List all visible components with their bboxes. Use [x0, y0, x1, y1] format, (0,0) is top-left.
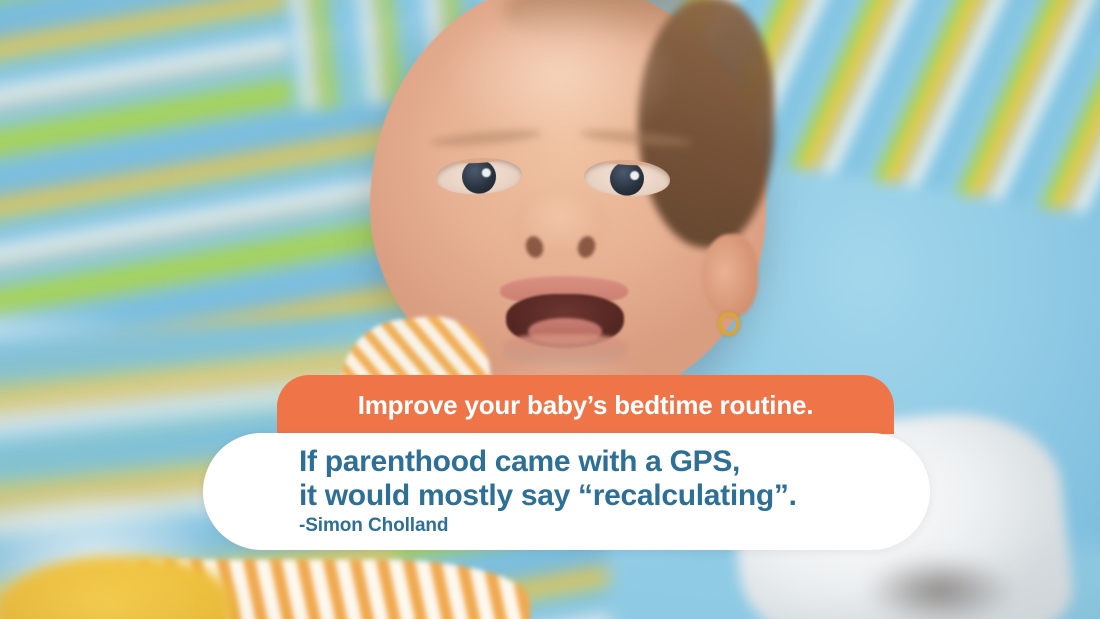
- headline-text: Improve your baby’s bedtime routine.: [358, 392, 814, 418]
- baby-ear: [702, 234, 758, 318]
- baby-forehead-highlight: [444, 0, 674, 148]
- swaddle-shadow: [864, 555, 1014, 619]
- quote-line-2: it would mostly say “recalculating”.: [299, 479, 870, 513]
- quote-author: -Simon Cholland: [299, 514, 870, 538]
- baby-eye-glint-right: [630, 171, 639, 180]
- quote-line-1: If parenthood came with a GPS,: [299, 445, 870, 479]
- baby-iris-right: [609, 161, 645, 197]
- quote-card: If parenthood came with a GPS, it would …: [203, 433, 930, 550]
- promo-image-canvas: Improve your baby’s bedtime routine. If …: [0, 0, 1100, 619]
- baby-eye-glint-left: [481, 168, 490, 177]
- baby-nose: [512, 188, 608, 270]
- headline-banner: Improve your baby’s bedtime routine.: [277, 375, 894, 434]
- gold-earring-icon: [718, 312, 740, 336]
- baby-iris-left: [461, 159, 497, 195]
